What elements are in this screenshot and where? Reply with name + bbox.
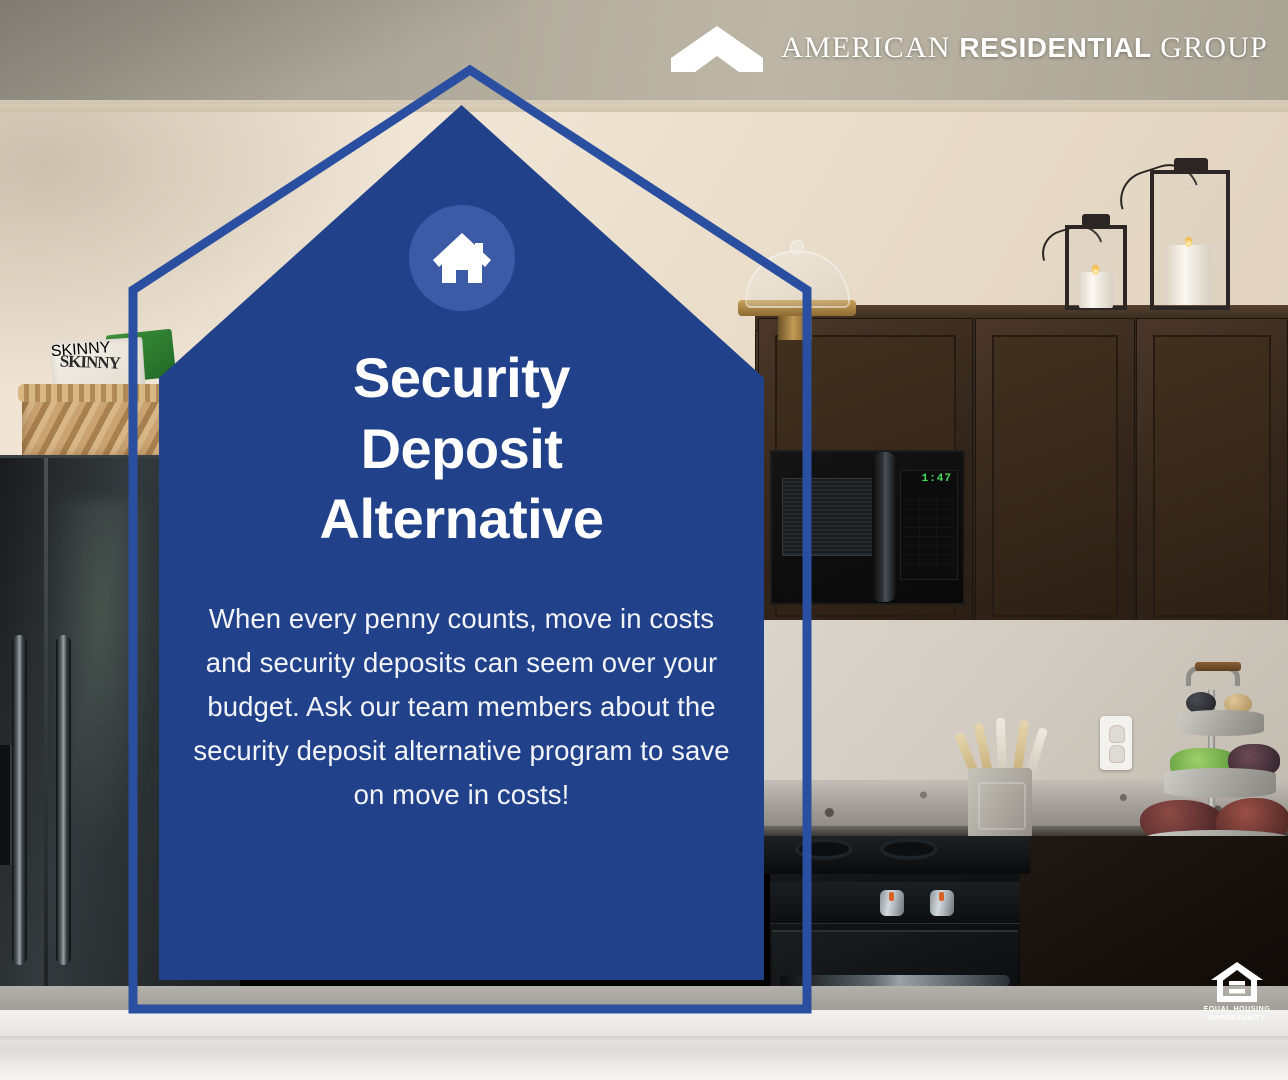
wall-outlet [1100,716,1132,770]
microwave-handle [872,452,896,602]
home-icon [430,229,494,287]
chevron-roof-icon [671,24,763,72]
cabinet-door [1136,318,1288,634]
headline-line-3: Alternative [202,484,722,555]
candle-flame-icon [1185,236,1192,247]
equal-housing-label: EQUAL HOUSING OPPORTUNITY [1204,1006,1271,1024]
range-knob [930,890,954,916]
tray-tier-middle [1164,768,1276,798]
refrigerator-handle [12,635,27,965]
eho-line-1: EQUAL HOUSING [1204,1006,1271,1015]
tray-tier-top [1178,710,1264,736]
candle [1079,272,1113,308]
range-knob [880,890,904,916]
refrigerator-door-seam [44,458,48,1013]
headline-line-2: Deposit [202,414,722,485]
equal-housing-opportunity-icon [1209,960,1265,1004]
eho-line-2: OPPORTUNITY [1204,1015,1271,1024]
microwave-clock-display: 1:47 [906,473,952,486]
poster-canvas: 1:47 [0,0,1288,1080]
equal-housing-badge: EQUAL HOUSING OPPORTUNITY [1200,960,1274,1032]
microwave-keys [903,492,955,572]
headline-line-1: Security [202,343,722,414]
refrigerator-dispenser [0,745,12,865]
candle [1167,245,1211,305]
brand-name-residential: RESIDENTIAL [959,32,1151,63]
brand-name-group: GROUP [1160,31,1268,64]
home-icon-badge [409,205,515,311]
brand-name: AMERICAN RESIDENTIAL GROUP [781,31,1268,65]
tray-handle [1186,666,1240,686]
page-title: Security Deposit Alternative [202,343,722,555]
body-copy: When every penny counts, move in costs a… [189,597,735,817]
brand-name-american: AMERICAN [781,31,951,64]
cabinet-door [975,318,1135,634]
utensil-crock [968,768,1032,840]
baseboard-trim [0,1010,1288,1080]
refrigerator-handle [56,635,71,965]
gas-burner [880,838,938,860]
candle-flame-icon [1092,264,1099,275]
brand-logo[interactable]: AMERICAN RESIDENTIAL GROUP [671,24,1268,72]
